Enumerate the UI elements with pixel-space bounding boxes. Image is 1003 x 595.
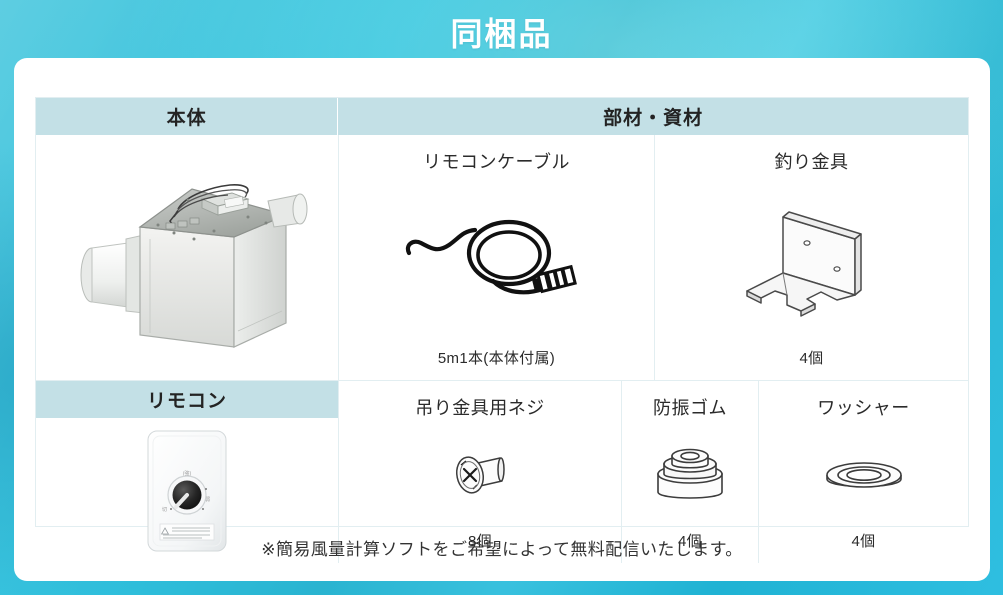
item-name-anti-vibration-rubber: 防振ゴム: [653, 395, 727, 421]
svg-text:切: 切: [162, 506, 167, 513]
main-unit-photo-wrap: [36, 135, 338, 380]
item-remote-cable: リモコンケーブル: [339, 135, 654, 380]
header-remote: リモコン: [36, 381, 338, 418]
item-hanging-bracket: 釣り金具: [655, 135, 968, 380]
cell-main-unit-photo: [36, 135, 338, 380]
footnote: ※簡易風量計算ソフトをご希望によって無料配信いたします。: [14, 535, 990, 560]
anti-vibration-rubber-icon: [642, 440, 738, 512]
header-parts-materials: 部材・資材: [337, 98, 968, 135]
item-art-washer: [759, 421, 968, 530]
included-items-table: 本体 部材・資材: [35, 97, 969, 527]
table-header-row-1: 本体 部材・資材: [36, 98, 968, 135]
item-art-bracket-screw: [339, 421, 621, 530]
phillips-screw-icon: [444, 443, 516, 509]
item-name-bracket-screw: 吊り金具用ネジ: [415, 395, 545, 421]
table-row-top: リモコンケーブル: [36, 135, 968, 380]
item-art-remote-cable: [339, 175, 654, 347]
cell-hanging-bracket: 釣り金具: [654, 135, 968, 380]
content-card: 本体 部材・資材: [14, 58, 990, 581]
item-name-remote-cable: リモコンケーブル: [423, 149, 570, 175]
hanging-bracket-icon: [727, 199, 897, 324]
coiled-cable-icon: [397, 201, 597, 321]
item-qty-remote-cable: 5m1本(本体付属): [438, 347, 555, 380]
flat-washer-icon: [821, 451, 907, 501]
page-title: 同梱品: [0, 13, 1003, 55]
duct-fan-unit-icon: [62, 165, 312, 350]
item-qty-hanging-bracket: 4個: [800, 347, 824, 380]
cell-remote-cable: リモコンケーブル: [338, 135, 654, 380]
item-name-washer: ワッシャー: [817, 395, 910, 421]
item-art-anti-vibration-rubber: [622, 421, 758, 530]
header-main-unit: 本体: [36, 98, 337, 135]
item-art-hanging-bracket: [655, 175, 968, 347]
page-root: 同梱品 本体 部材・資材: [0, 0, 1003, 595]
item-name-hanging-bracket: 釣り金具: [775, 149, 849, 175]
